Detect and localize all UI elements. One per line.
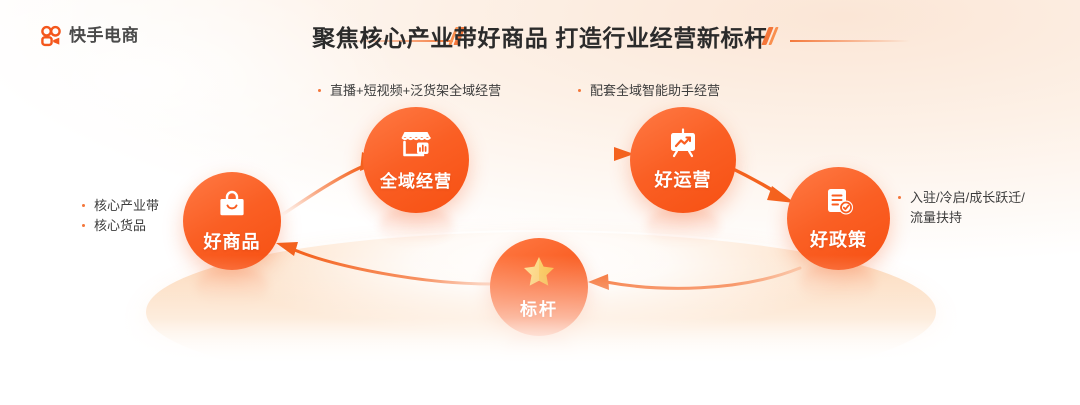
annotation-text: 流量扶持	[910, 210, 962, 225]
storefront-icon	[399, 129, 433, 164]
annotation-omnichannel: 直播+短视频+泛货架全域经营	[318, 81, 501, 101]
annotation-row: 入驻/冷启/成长跃迁/	[898, 188, 1025, 208]
annotation-operations: 配套全域智能助手经营	[578, 81, 720, 101]
chart-board-icon	[667, 128, 699, 163]
node-omnichannel[interactable]: 全域经营	[363, 107, 469, 213]
annotation-policy: 入驻/冷启/成长跃迁/ 流量扶持	[898, 188, 1025, 228]
annotation-text: 核心产业带	[94, 198, 159, 213]
node-good-operations[interactable]: 好运营	[630, 107, 736, 213]
annotation-goods: 核心产业带 核心货品	[82, 196, 159, 236]
annotation-text: 直播+短视频+泛货架全域经营	[330, 83, 501, 98]
bullet-dot-icon	[82, 224, 85, 227]
bullet-dot-icon	[578, 89, 581, 92]
annotation-row: 核心产业带	[82, 196, 159, 216]
infographic-canvas: 快手电商 聚焦核心产业带好商品 打造行业经营新标杆	[0, 0, 1080, 405]
node-label: 好商品	[204, 228, 261, 254]
annotation-row: 流量扶持	[898, 208, 1025, 228]
node-label: 好政策	[810, 226, 867, 252]
node-label: 好运营	[655, 166, 712, 192]
title-rule-right	[790, 40, 910, 42]
policy-document-icon	[823, 186, 855, 223]
node-label: 全域经营	[380, 167, 452, 192]
bullet-dot-icon	[82, 204, 85, 207]
bullet-dot-icon	[898, 196, 901, 199]
annotation-text: 入驻/冷启/成长跃迁/	[910, 190, 1025, 205]
annotation-text: 配套全域智能助手经营	[590, 83, 720, 98]
title-slash-right-icon	[765, 27, 775, 45]
bullet-dot-icon	[318, 89, 321, 92]
page-title: 聚焦核心产业带好商品 打造行业经营新标杆	[0, 19, 1080, 53]
annotation-text: 核心货品	[94, 218, 146, 233]
annotation-row: 核心货品	[82, 216, 159, 236]
header: 快手电商 聚焦核心产业带好商品 打造行业经营新标杆	[0, 0, 1080, 70]
shopping-bag-icon	[216, 188, 248, 225]
background-bottom-fade	[0, 255, 1080, 405]
